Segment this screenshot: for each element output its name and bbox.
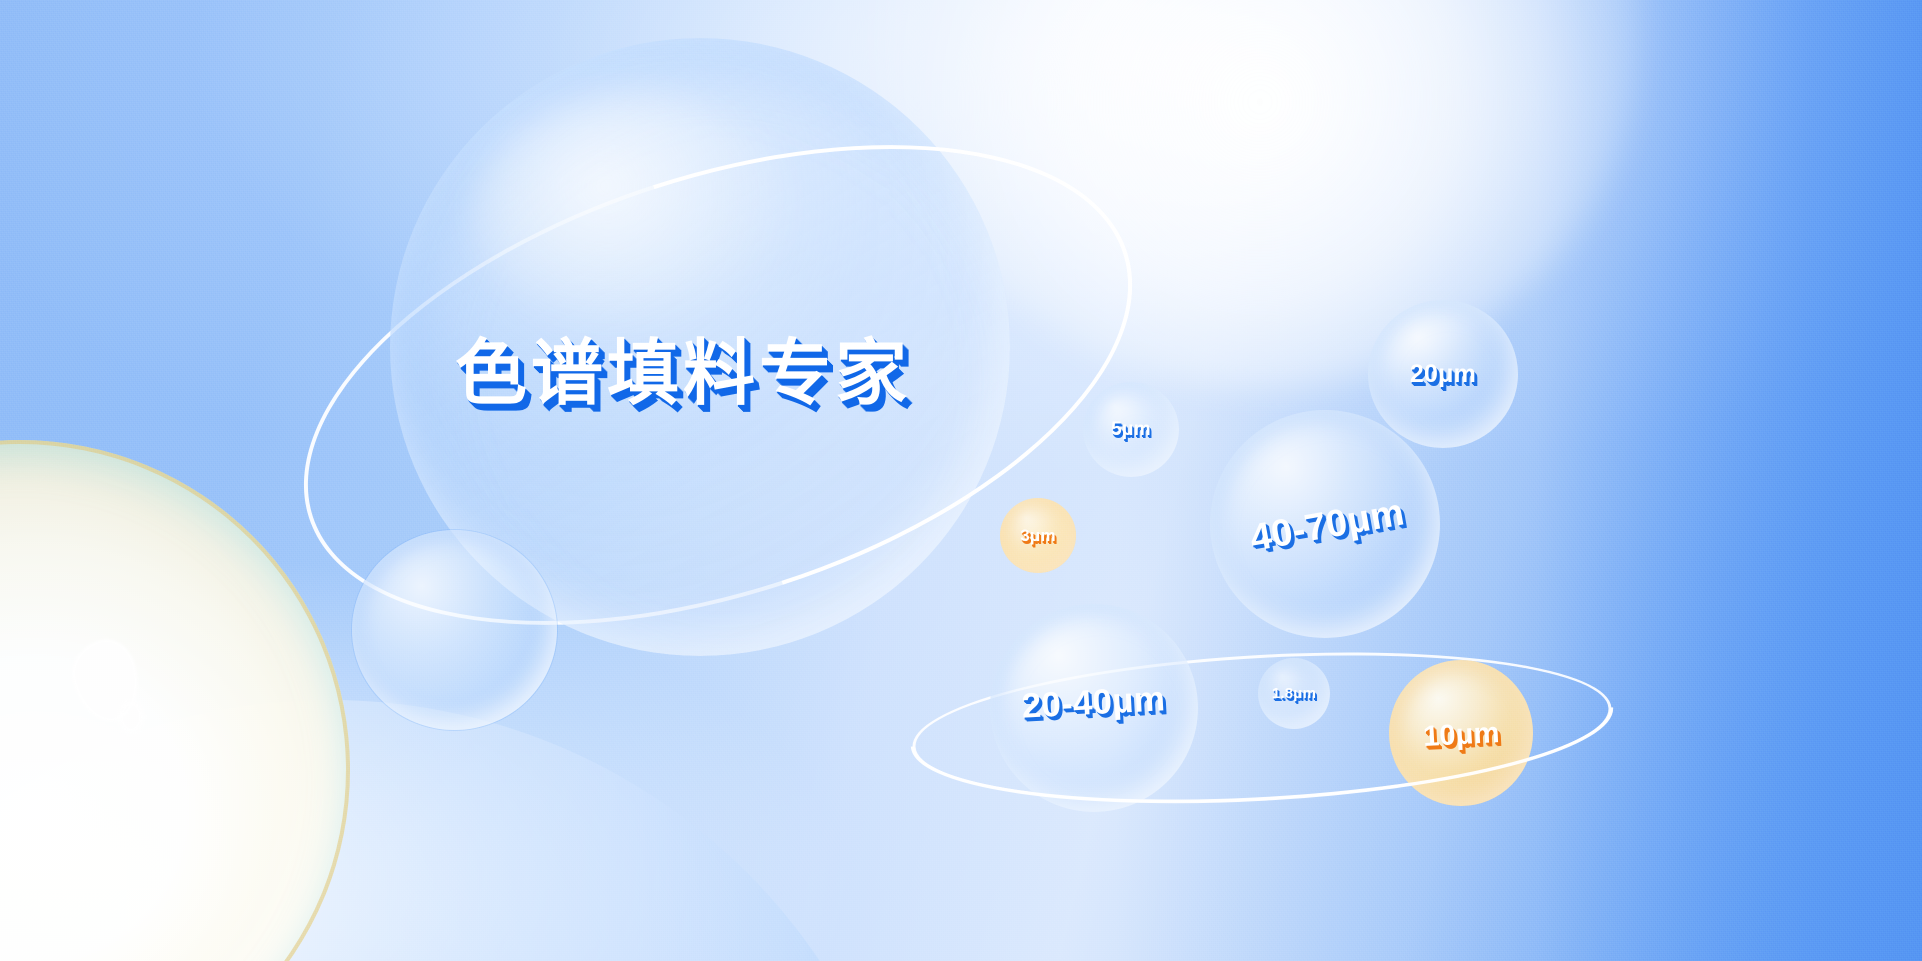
- bubble-label-10um: 10μm: [1422, 719, 1500, 752]
- bubble-label-1.8um: 1.8μm: [1272, 686, 1316, 701]
- bubble-label-20-40um: 20-40μm: [1021, 681, 1166, 723]
- hero-banner: 色谱填料专家 20μm 40-70μm 5μm 3μm 20-40μm 1.8μ…: [0, 0, 1922, 961]
- bubble-label-3um: 3μm: [1020, 527, 1056, 544]
- background-noise-texture: [0, 0, 1922, 961]
- page-title: 色谱填料专家: [455, 338, 911, 410]
- bubble-label-5um: 5μm: [1111, 420, 1151, 439]
- bubble-label-20um: 20μm: [1410, 362, 1476, 387]
